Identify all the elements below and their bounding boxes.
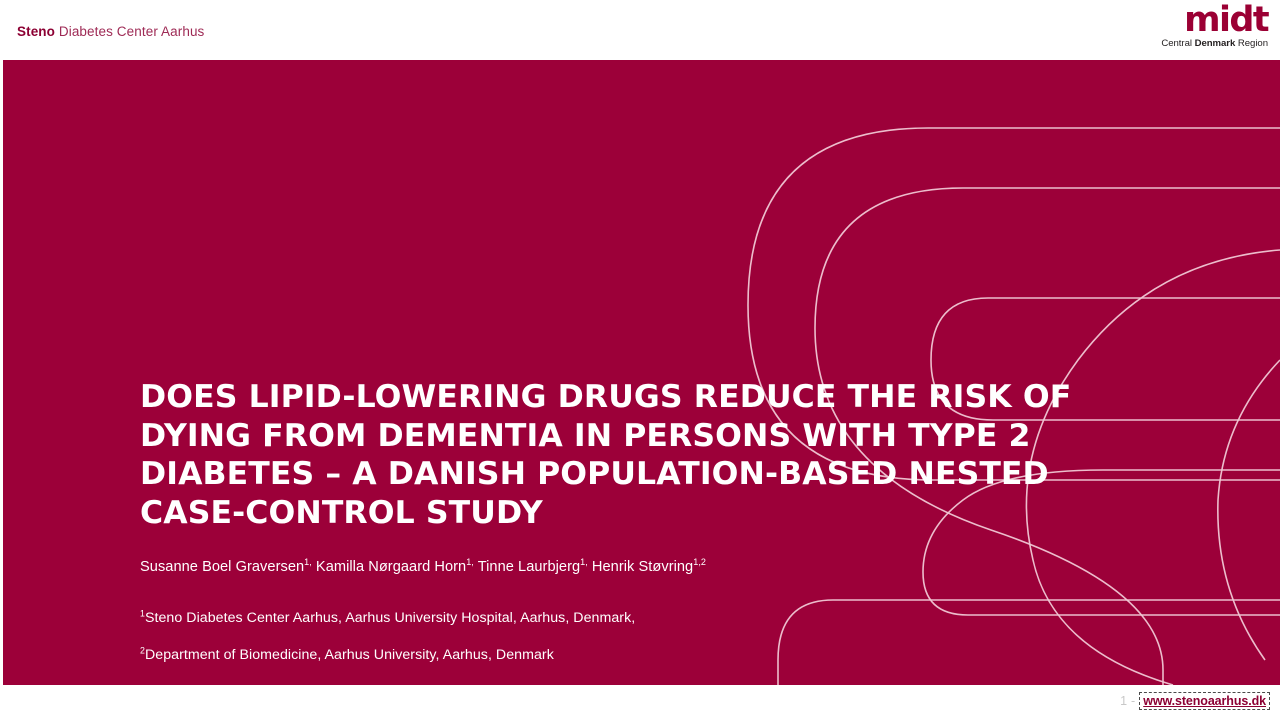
affiliation-marker: 1,2 <box>693 557 706 567</box>
slide-footer: 1 - www.stenoaarhus.dk <box>0 685 1280 720</box>
website-link[interactable]: www.stenoaarhus.dk <box>1143 695 1266 708</box>
presentation-slide: Steno Diabetes Center Aarhus midt Centra… <box>0 0 1280 720</box>
steno-logo-rest-text: Diabetes Center Aarhus <box>55 24 204 39</box>
authors-line: Susanne Boel Graversen1, Kamilla Nørgaar… <box>140 558 1120 577</box>
midt-sub-prefix: Central <box>1161 38 1194 49</box>
affiliations-block: 1Steno Diabetes Center Aarhus, Aarhus Un… <box>140 591 1120 684</box>
affiliation-marker: 1, <box>580 557 588 567</box>
title-block: Does lipid-lowering drugs reduce the ris… <box>140 378 1120 683</box>
footer-separator: - <box>1131 695 1135 708</box>
affiliation-1: 1Steno Diabetes Center Aarhus, Aarhus Un… <box>140 609 1120 628</box>
midt-sub-suffix: Region <box>1235 38 1268 49</box>
midt-sub-bold: Denmark <box>1195 38 1236 49</box>
page-number: 1 <box>1120 695 1127 708</box>
footer-content: 1 - www.stenoaarhus.dk <box>1120 692 1270 710</box>
steno-logo-bold-word: Steno <box>17 24 55 39</box>
affiliation-marker: 1 <box>140 609 145 619</box>
midt-logo-subtitle: Central Denmark Region <box>1142 39 1268 49</box>
midt-central-denmark-region-logo: midt Central Denmark Region <box>1142 4 1268 48</box>
affiliation-marker: 1, <box>466 557 474 567</box>
affiliation-marker: 1, <box>304 557 312 567</box>
slide-body-panel: Does lipid-lowering drugs reduce the ris… <box>3 60 1280 685</box>
page-title: Does lipid-lowering drugs reduce the ris… <box>140 378 1120 532</box>
footer-link-selection-box[interactable]: www.stenoaarhus.dk <box>1139 692 1270 710</box>
deco-curve-right-tail <box>1218 360 1280 660</box>
steno-diabetes-center-logo: Steno Diabetes Center Aarhus <box>17 25 204 39</box>
affiliation-marker: 2 <box>140 646 145 656</box>
slide-header: Steno Diabetes Center Aarhus midt Centra… <box>0 0 1280 60</box>
midt-wordmark: midt <box>1142 4 1268 37</box>
affiliation-2: 2Department of Biomedicine, Aarhus Unive… <box>140 646 1120 665</box>
